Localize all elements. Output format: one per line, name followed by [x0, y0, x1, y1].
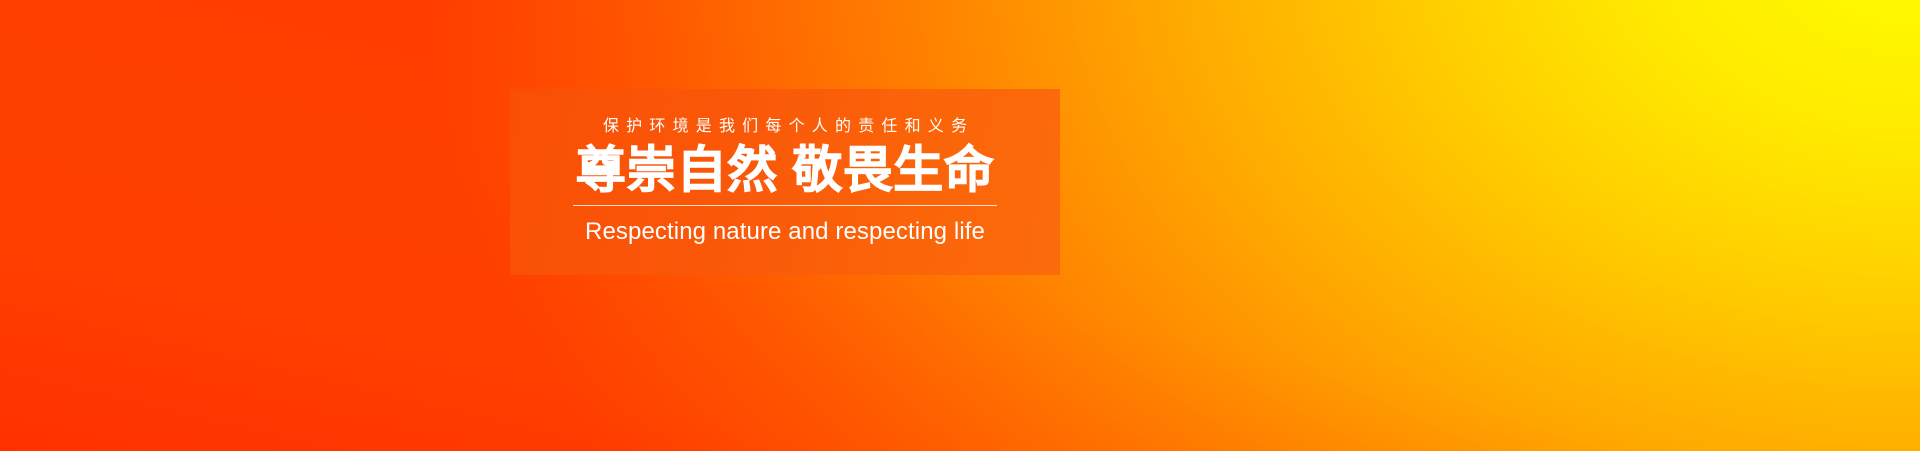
promo-banner: 保护环境是我们每个人的责任和义务 尊崇自然 敬畏生命 Respecting na…: [0, 0, 1920, 451]
message-panel-content: 保护环境是我们每个人的责任和义务 尊崇自然 敬畏生命 Respecting na…: [573, 119, 997, 246]
tagline-english: Respecting nature and respecting life: [585, 219, 985, 245]
message-panel: 保护环境是我们每个人的责任和义务 尊崇自然 敬畏生命 Respecting na…: [510, 89, 1060, 275]
headline-chinese: 尊崇自然 敬畏生命: [576, 144, 994, 197]
divider-rule: [573, 205, 997, 206]
subtitle-chinese: 保护环境是我们每个人的责任和义务: [596, 119, 974, 135]
